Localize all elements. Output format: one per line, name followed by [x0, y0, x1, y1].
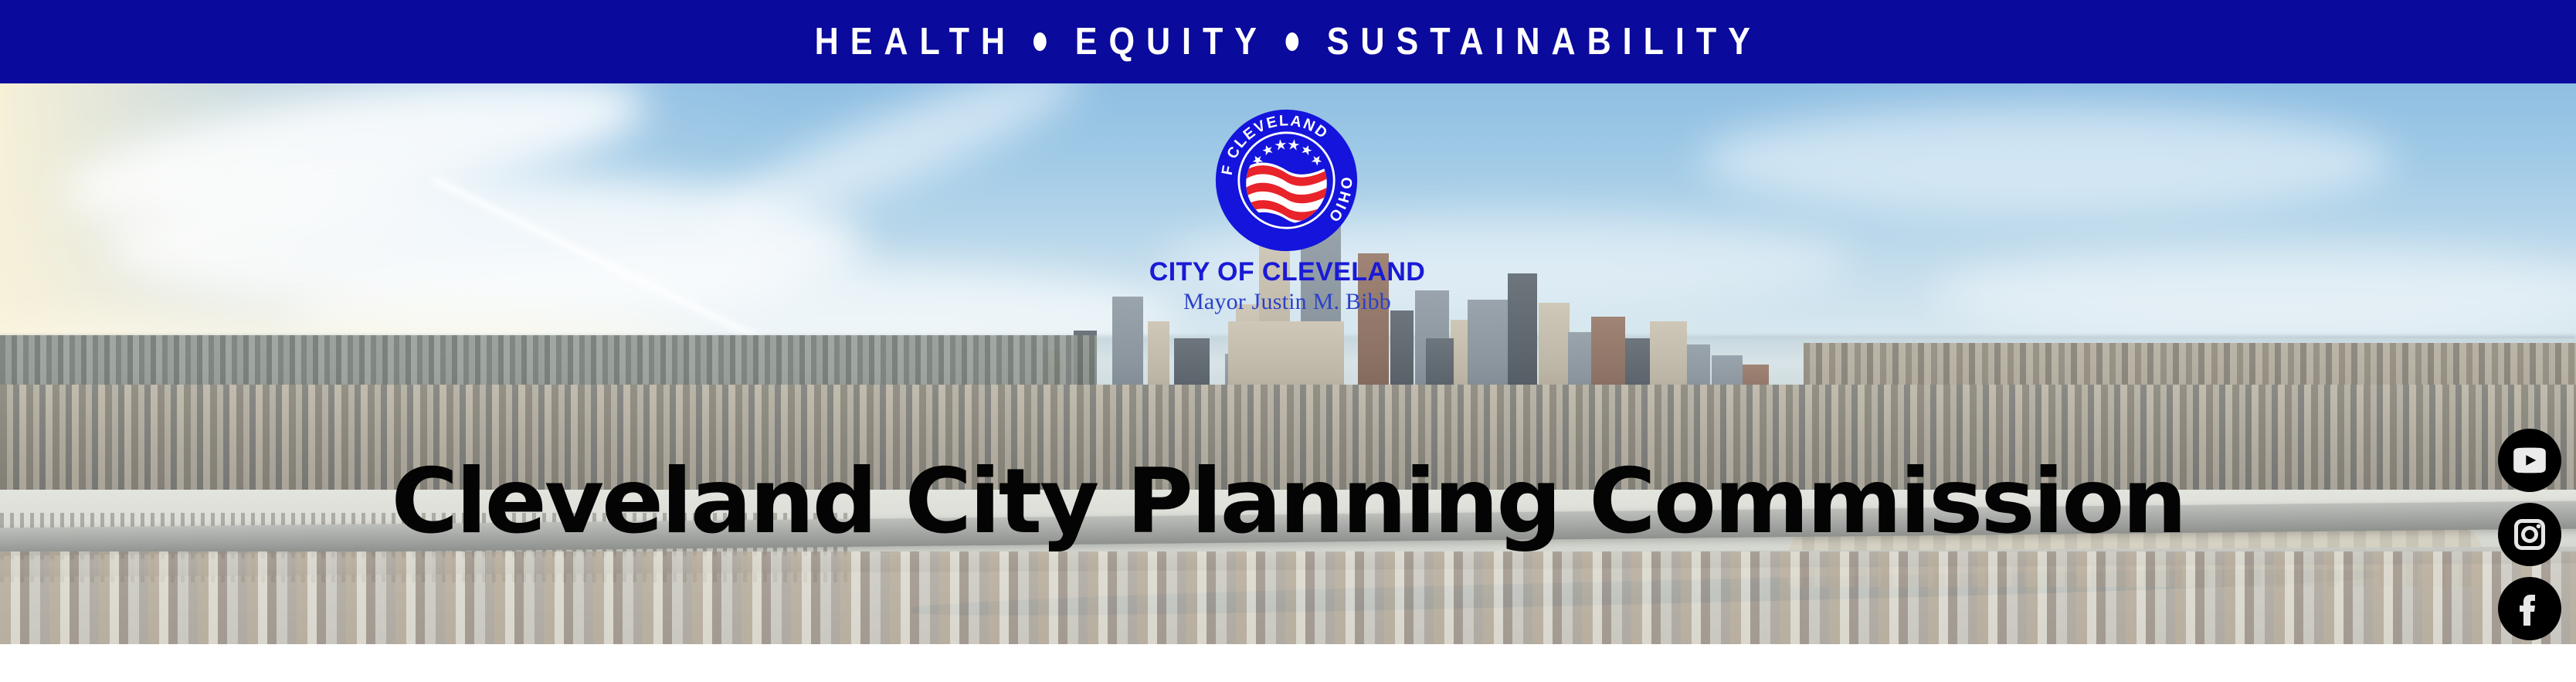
- social-links-rail: [2498, 429, 2561, 640]
- mayor-name-label: Mayor Justin M. Bibb: [0, 288, 2575, 316]
- instagram-icon: [2511, 516, 2548, 553]
- page-title: Cleveland City Planning Commission: [0, 457, 2576, 547]
- city-of-cleveland-seal-icon: CITY OF CLEVELAND OHIO: [1214, 108, 1359, 253]
- city-identity-block: CITY OF CLEVELAND Mayor Justin M. Bibb: [0, 257, 2575, 316]
- tagline-separator-dot-2: [1285, 32, 1298, 51]
- tagline-word-health: HEALTH: [814, 23, 1016, 61]
- youtube-icon: [2510, 441, 2549, 480]
- social-link-facebook[interactable]: [2498, 577, 2561, 640]
- social-link-youtube[interactable]: [2498, 429, 2561, 492]
- social-link-instagram[interactable]: [2498, 503, 2561, 566]
- city-seal: CITY OF CLEVELAND OHIO: [1214, 108, 1359, 253]
- city-name-label: CITY OF CLEVELAND: [0, 257, 2575, 287]
- hero-photo: CITY OF CLEVELAND OHIO: [0, 83, 2576, 644]
- tagline-word-equity: EQUITY: [1074, 23, 1268, 61]
- tagline-separator-dot-1: [1033, 32, 1047, 51]
- tagline-word-sustainability: SUSTAINABILITY: [1326, 23, 1761, 61]
- foreground-houses: [0, 551, 2576, 644]
- facebook-icon: [2511, 590, 2548, 627]
- page-root: HEALTH EQUITY SUSTAINABILITY: [0, 0, 2576, 682]
- tagline-row: HEALTH EQUITY SUSTAINABILITY: [814, 23, 1761, 61]
- tagline-banner: HEALTH EQUITY SUSTAINABILITY: [0, 0, 2576, 83]
